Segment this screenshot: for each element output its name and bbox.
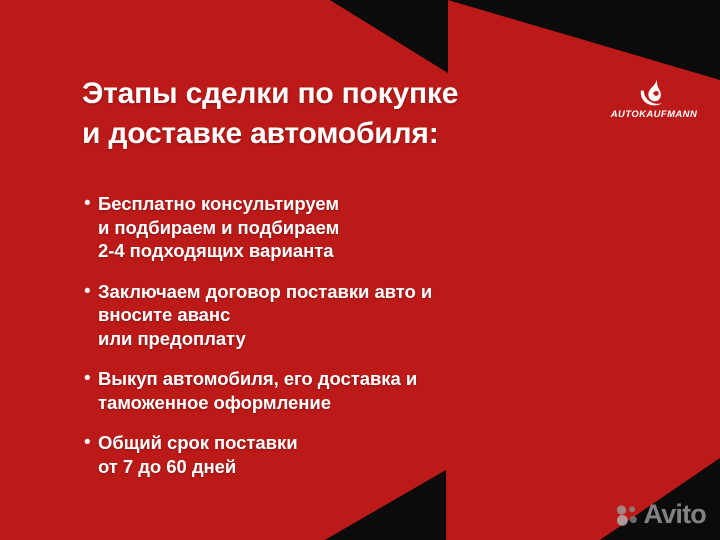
list-item: • Бесплатно консультируем и подбираем и …: [84, 192, 624, 263]
list-item: • Общий срок поставки от 7 до 60 дней: [84, 431, 624, 478]
avito-dots-icon: [615, 503, 639, 527]
bullet-dot-icon: •: [84, 431, 98, 454]
list-item: • Выкуп автомобиля, его доставка и тамож…: [84, 367, 624, 414]
poster-content: Этапы сделки по покупке и доставке автом…: [0, 0, 720, 540]
list-item-line: вносите аванс: [98, 303, 624, 327]
headline-line-1: Этапы сделки по покупке: [82, 74, 602, 114]
promo-poster: Этапы сделки по покупке и доставке автом…: [0, 0, 720, 540]
list-item-line: и подбираем и подбираем: [98, 216, 624, 240]
list-item-text: Бесплатно консультируем и подбираем и по…: [98, 192, 624, 263]
bullet-dot-icon: •: [84, 280, 98, 303]
list-item-line: от 7 до 60 дней: [98, 455, 624, 479]
list-item-line: таможенное оформление: [98, 391, 624, 415]
list-item-line: Заключаем договор поставки авто и: [98, 280, 624, 304]
avito-watermark: Avito: [615, 501, 707, 528]
list-item-text: Общий срок поставки от 7 до 60 дней: [98, 431, 624, 478]
list-item: • Заключаем договор поставки авто и внос…: [84, 280, 624, 351]
brand-wordmark: AUTOKAUFMANN: [596, 109, 712, 120]
list-item-line: Выкуп автомобиля, его доставка и: [98, 367, 624, 391]
autokaufmann-flame-icon: [638, 78, 670, 108]
bullet-dot-icon: •: [84, 367, 98, 390]
page-title: Этапы сделки по покупке и доставке автом…: [82, 74, 602, 154]
list-item-text: Заключаем договор поставки авто и вносит…: [98, 280, 624, 351]
list-item-line: 2-4 подходящих варианта: [98, 239, 624, 263]
steps-list: • Бесплатно консультируем и подбираем и …: [84, 192, 624, 478]
avito-label: Avito: [644, 501, 707, 528]
brand-logo: AUTOKAUFMANN: [596, 78, 712, 120]
list-item-line: Бесплатно консультируем: [98, 192, 624, 216]
list-item-line: Общий срок поставки: [98, 431, 624, 455]
list-item-text: Выкуп автомобиля, его доставка и таможен…: [98, 367, 624, 414]
list-item-line: или предоплату: [98, 327, 624, 351]
bullet-dot-icon: •: [84, 192, 98, 215]
headline-line-2: и доставке автомобиля:: [82, 114, 602, 154]
